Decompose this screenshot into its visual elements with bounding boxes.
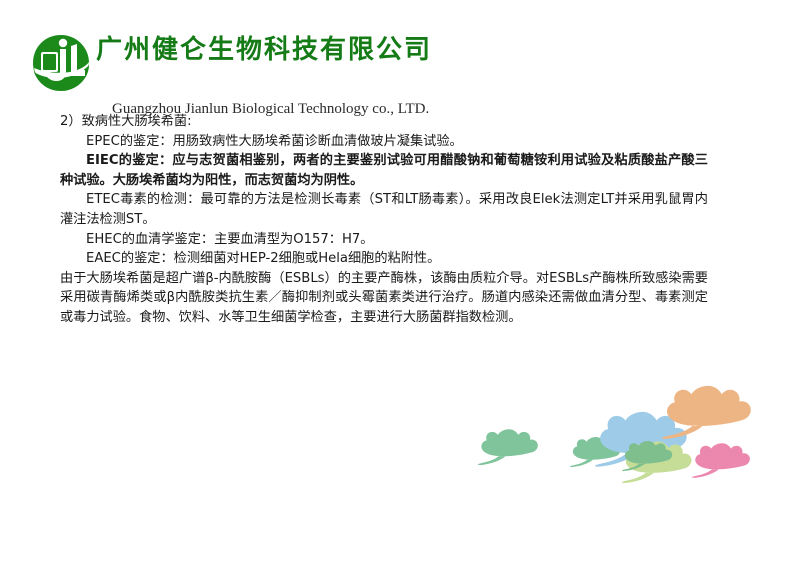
jianlun-jl-monogram-logo-icon (30, 32, 92, 94)
body-text: 2）致病性大肠埃希菌: EPEC的鉴定：用肠致病性大肠埃希菌诊断血清做玻片凝集试… (60, 112, 708, 328)
leaf-pink (692, 443, 750, 478)
eiec-identification: EIEC的鉴定：应与志贺菌相鉴别，两者的主要鉴别试验可用醋酸钠和葡萄糖铵利用试验… (60, 151, 708, 190)
ginkgo-leaf-cluster (470, 378, 790, 508)
esbls-summary: 由于大肠埃希菌是超广谱β-内酰胺酶（ESBLs）的主要产酶株，该酶由质粒介导。对… (60, 269, 708, 328)
section-heading: 2）致病性大肠埃希菌: (60, 112, 708, 132)
epec-identification: EPEC的鉴定：用肠致病性大肠埃希菌诊断血清做玻片凝集试验。 (60, 132, 708, 152)
document-page: 广州健仑生物科技有限公司 Guangzhou Jianlun Biologica… (0, 0, 800, 565)
company-name-chinese: 广州健仑生物科技有限公司 (96, 34, 432, 66)
eaec-identification: EAEC的鉴定：检测细菌对HEP-2细胞或Hela细胞的粘附性。 (60, 249, 708, 269)
letterhead: 广州健仑生物科技有限公司 Guangzhou Jianlun Biologica… (30, 28, 450, 98)
leaf-left-green (478, 429, 538, 465)
etec-toxin-detection: ETEC毒素的检测：最可靠的方法是检测长毒素（ST和LT肠毒素）。采用改良Ele… (60, 190, 708, 229)
ehec-serology: EHEC的血清学鉴定：主要血清型为O157：H7。 (60, 230, 708, 250)
